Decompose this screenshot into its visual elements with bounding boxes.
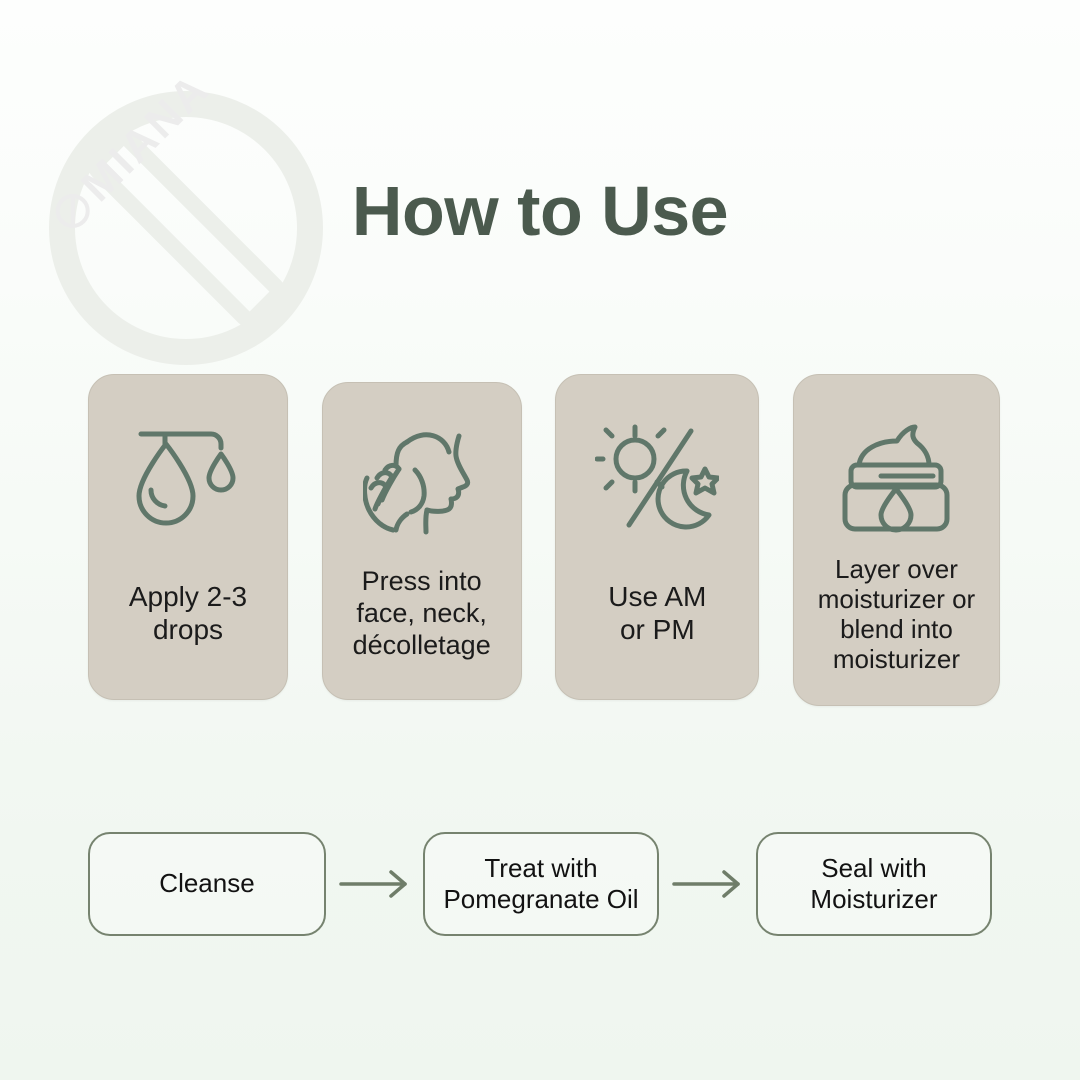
- step-label-line: moisturizer: [818, 644, 975, 674]
- flow-box-label: Cleanse: [159, 868, 254, 899]
- flow-box-label: Seal with: [810, 853, 937, 884]
- page-title: How to Use: [0, 176, 1080, 246]
- step-label-line: Layer over: [818, 554, 975, 584]
- step-card-layer-over-moisturizer[interactable]: Layer over moisturizer or blend into moi…: [793, 374, 1000, 706]
- step-label-line: drops: [129, 613, 247, 646]
- step-label-line: face, neck,: [353, 598, 491, 630]
- step-label-line: blend into: [818, 614, 975, 644]
- flow-box-cleanse[interactable]: Cleanse: [88, 832, 326, 936]
- step-card-press-into-face[interactable]: Press into face, neck, décolletage: [322, 382, 522, 700]
- flow-box-label: Treat with: [443, 853, 638, 884]
- step-card-apply-drops[interactable]: Apply 2-3 drops: [88, 374, 288, 700]
- flow-box-seal-with-moisturizer[interactable]: Seal with Moisturizer: [756, 832, 992, 936]
- cream-jar-icon: [837, 419, 955, 537]
- dropper-drop-icon: [133, 419, 243, 537]
- step-card-label: Layer over moisturizer or blend into moi…: [816, 541, 977, 687]
- step-label-line: moisturizer or: [818, 584, 975, 614]
- flow-box-label: Moisturizer: [810, 884, 937, 915]
- step-label-line: Use AM: [608, 580, 706, 613]
- arrow-right-icon: [326, 869, 423, 899]
- step-card-label: Apply 2-3 drops: [127, 545, 249, 681]
- sun-moon-icon: [595, 419, 719, 537]
- step-card-label: Use AM or PM: [606, 545, 708, 681]
- step-label-line: or PM: [608, 613, 706, 646]
- step-card-use-am-or-pm[interactable]: Use AM or PM: [555, 374, 759, 700]
- step-card-label: Press into face, neck, décolletage: [351, 547, 493, 681]
- routine-flow-row: Cleanse Treat with Pomegranate Oil Seal …: [88, 832, 992, 936]
- hand-pressing-face-icon: [363, 427, 481, 545]
- flow-box-label: Pomegranate Oil: [443, 884, 638, 915]
- step-label-line: décolletage: [353, 630, 491, 662]
- step-label-line: Apply 2-3: [129, 580, 247, 613]
- arrow-right-icon: [659, 869, 756, 899]
- steps-row: Apply 2-3 drops: [88, 374, 1000, 706]
- step-label-line: Press into: [353, 566, 491, 598]
- flow-box-treat-with-pomegranate-oil[interactable]: Treat with Pomegranate Oil: [423, 832, 659, 936]
